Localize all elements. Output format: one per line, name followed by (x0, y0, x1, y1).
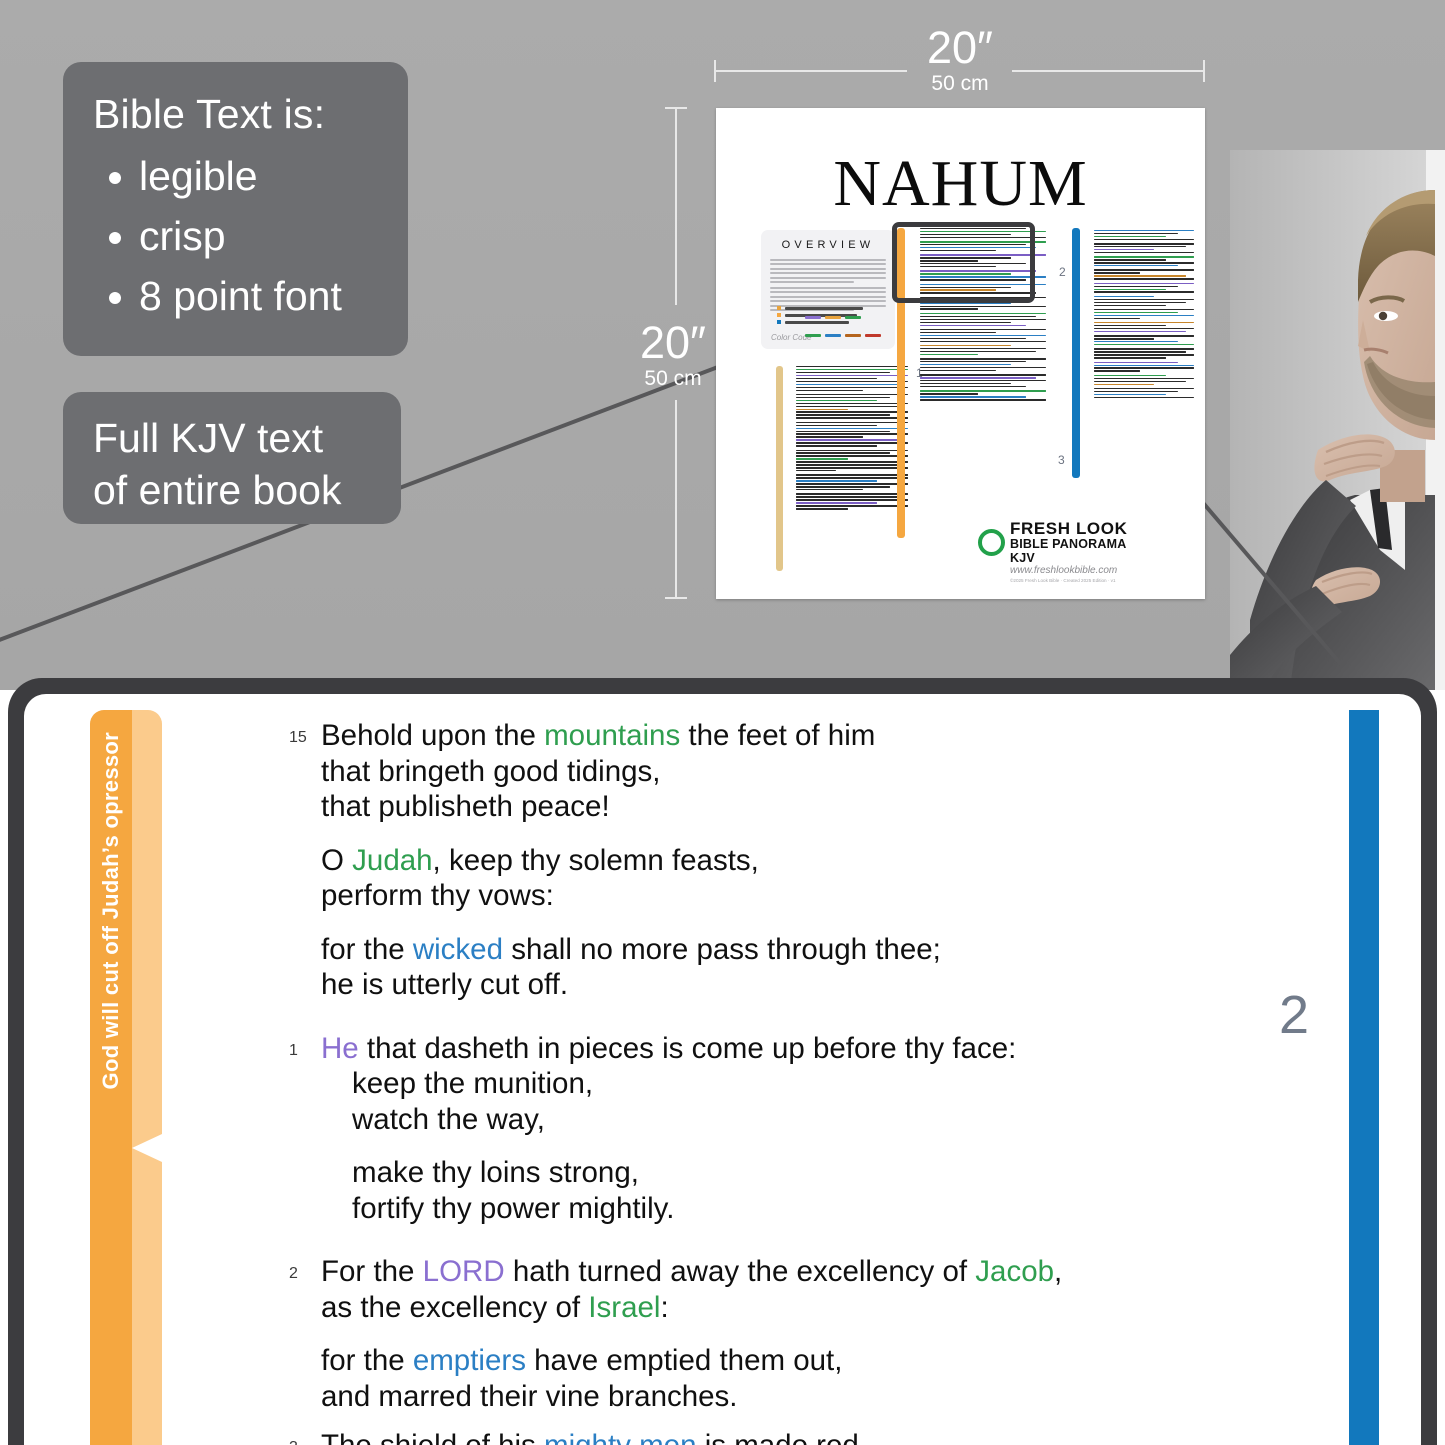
verse-text-run: Behold upon the (321, 719, 544, 752)
verse-text-run: , keep thy solemn feasts, (433, 844, 759, 877)
verse-text-run: is made red, (697, 1429, 868, 1445)
verse-line: make thy loins strong, (321, 1155, 1211, 1191)
section-bar-label: God will cut off Judah’s opressor (98, 732, 124, 1089)
verse-text-run: perform thy vows: (321, 879, 554, 912)
verse-number: 1 (289, 1033, 298, 1069)
verse-text-run: hath turned away the excellency of (505, 1255, 976, 1288)
logo-ring-icon (978, 529, 1005, 556)
verse-text-run: : (660, 1291, 668, 1324)
verse-text-run: for the (321, 933, 413, 966)
dim-left-rule-bottom (675, 400, 677, 598)
logo-copyright: ©2025 Fresh Look Bible · Created 2025 Ed… (1010, 577, 1153, 584)
verse-highlight-nature: mountains (544, 719, 680, 752)
verse-text-run: The shield of his (321, 1429, 544, 1445)
verse-highlight-people: Judah (352, 844, 432, 877)
verse-line: fortify thy power mightily. (321, 1191, 1211, 1227)
verse-number: 2 (289, 1256, 298, 1292)
logo-line-2: BIBLE PANORAMA KJV (1010, 537, 1153, 565)
verse-line: 2 For the LORD hath turned away the exce… (321, 1254, 1211, 1290)
dim-top-tick-right (1203, 60, 1205, 82)
verse-line: for the emptiers have emptied them out, (321, 1343, 1211, 1379)
poster-chapter-marker-3: 3 (1058, 453, 1065, 467)
verse-text-run: the feet of him (680, 719, 875, 752)
poster-thumbnail[interactable]: NAHUM OVERVIEW Color Code (716, 108, 1205, 599)
verse-block: 1 He that dasheth in pieces is come up b… (321, 1031, 1211, 1227)
poster-chapter3-bar (1072, 228, 1080, 478)
poster-text-column-3 (1094, 230, 1194, 400)
poster-overview-heading: OVERVIEW (761, 239, 895, 251)
verse-text-run: watch the way, (352, 1103, 545, 1136)
chapter-accent-bar (1349, 710, 1379, 1445)
verse-text-run: For the (321, 1255, 423, 1288)
poster-chapter1-bar (776, 366, 783, 571)
feature-card-title: Bible Text is: (93, 88, 380, 140)
verse-text-run: that bringeth good tidings, (321, 755, 661, 788)
bullet-dot-icon (109, 172, 121, 184)
verse-line: that bringeth good tidings, (321, 754, 1211, 790)
dim-width-metric: 50 cm (860, 71, 1060, 97)
poster-logo: FRESH LOOK BIBLE PANORAMA KJV www.freshl… (978, 520, 1153, 584)
dim-top-tick-left (714, 60, 716, 82)
dim-width-inches: 20″ (860, 25, 1060, 71)
verse-text-run: keep the munition, (352, 1067, 593, 1100)
promo-sheet: Bible Text is: legible crisp 8 point fon… (0, 0, 1445, 1445)
verse-text-run: that dasheth in pieces is come up before… (359, 1032, 1017, 1065)
verse-text-run: he is utterly cut off. (321, 968, 568, 1001)
promo-top-area: Bible Text is: legible crisp 8 point fon… (0, 0, 1445, 690)
dim-left-rule-top (675, 108, 677, 305)
verse-highlight-god: He (321, 1032, 359, 1065)
verse-line: watch the way, (321, 1102, 1211, 1138)
verse-line: perform thy vows: (321, 878, 1211, 914)
scripture-text-block: 15 Behold upon the mountains the feet of… (321, 718, 1211, 1445)
verse-line: for the wicked shall no more pass throug… (321, 932, 1211, 968)
poster-chapter-marker-2: 2 (1059, 265, 1066, 279)
verse-line: and marred their vine branches. (321, 1379, 1211, 1415)
verse-line: as the excellency of Israel: (321, 1290, 1211, 1326)
feature-bullet-label: crisp (139, 213, 226, 259)
bullet-dot-icon (109, 232, 121, 244)
verse-highlight-people: Israel (588, 1291, 660, 1324)
feature-bullet-label: legible (139, 153, 258, 199)
dim-left-tick-bottom (665, 597, 687, 599)
dim-left-tick-top (665, 107, 687, 109)
chapter-number: 2 (1279, 984, 1309, 1046)
feature-bullet-item: 8 point font (93, 266, 380, 326)
verse-text-run: have emptied them out, (526, 1344, 843, 1377)
verse-text-run: that publisheth peace! (321, 790, 610, 823)
verse-text-run: fortify thy power mightily. (352, 1192, 674, 1225)
feature-card-full-kjv: Full KJV text of entire book (63, 392, 401, 524)
verse-text-run: shall no more pass through thee; (503, 933, 941, 966)
feature-bullet-item: legible (93, 146, 380, 206)
feature-card-text-quality: Bible Text is: legible crisp 8 point fon… (63, 62, 408, 356)
verse-block: 3 The shield of his mighty men is made r… (321, 1428, 1211, 1445)
verse-text-run: for the (321, 1344, 413, 1377)
section-bar-label-wrap: God will cut off Judah’s opressor (90, 710, 132, 1445)
verse-block: 2 For the LORD hath turned away the exce… (321, 1254, 1211, 1414)
verse-number: 3 (289, 1430, 298, 1445)
dim-width-label: 20″ 50 cm (860, 25, 1060, 97)
section-theme-bar: God will cut off Judah’s opressor (90, 710, 162, 1445)
verse-highlight-people-blue: mighty men (544, 1429, 696, 1445)
verse-line: 3 The shield of his mighty men is made r… (321, 1428, 1211, 1445)
verse-line: 1 He that dasheth in pieces is come up b… (321, 1031, 1211, 1067)
feature-bullet-item: crisp (93, 206, 380, 266)
verse-text-run: O (321, 844, 352, 877)
verse-line: O Judah, keep thy solemn feasts, (321, 843, 1211, 879)
verse-line: that publisheth peace! (321, 789, 1211, 825)
verse-block: 15 Behold upon the mountains the feet of… (321, 718, 1211, 1003)
verse-text-run: and marred their vine branches. (321, 1380, 738, 1413)
full-kjv-line-1: Full KJV text (93, 412, 373, 464)
magnified-detail-page: God will cut off Judah’s opressor 2 15 B… (24, 694, 1421, 1445)
verse-number: 15 (289, 720, 307, 756)
poster-color-key (803, 307, 889, 343)
section-bar-light (132, 710, 162, 1445)
verse-line: he is utterly cut off. (321, 967, 1211, 1003)
magnification-highlight-rect (892, 222, 1035, 303)
verse-highlight-people-blue: wicked (413, 933, 503, 966)
verse-highlight-god: LORD (423, 1255, 505, 1288)
verse-text-run: make thy loins strong, (352, 1156, 639, 1189)
logo-website: www.freshlookbible.com (1010, 565, 1153, 577)
feature-bullet-list: legible crisp 8 point font (93, 146, 380, 326)
verse-text-run: , (1054, 1255, 1062, 1288)
feature-bullet-label: 8 point font (139, 273, 342, 319)
poster-overview-box: OVERVIEW Color Code (761, 230, 895, 349)
verse-text-run: as the excellency of (321, 1291, 588, 1324)
verse-highlight-people: Jacob (975, 1255, 1054, 1288)
bullet-dot-icon (109, 292, 121, 304)
full-kjv-line-2: of entire book (93, 464, 373, 516)
verse-highlight-people-blue: emptiers (413, 1344, 526, 1377)
poster-text-column-1 (796, 366, 908, 511)
thinking-man-photo (1230, 150, 1445, 690)
magnified-detail-panel: God will cut off Judah’s opressor 2 15 B… (8, 678, 1437, 1445)
poster-book-title: NAHUM (716, 146, 1205, 222)
verse-line: 15 Behold upon the mountains the feet of… (321, 718, 1211, 754)
verse-line: keep the munition, (321, 1066, 1211, 1102)
logo-line-1: FRESH LOOK (1010, 520, 1153, 537)
